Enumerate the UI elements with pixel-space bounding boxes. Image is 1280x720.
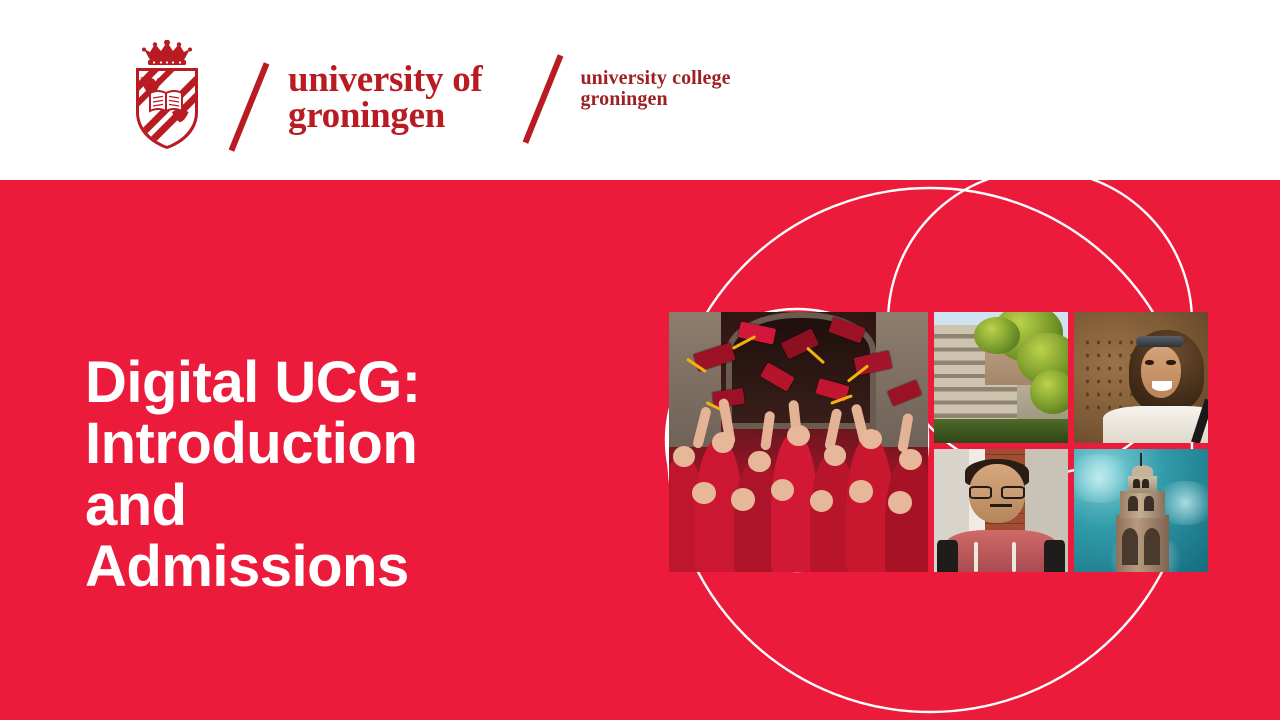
slide-body: Digital UCG: Introduction and Admissions	[0, 180, 1280, 720]
logo-lockup: university of groningen university colle…	[128, 40, 731, 152]
university-of-groningen-coat-of-arms-icon	[128, 40, 206, 152]
university-of-groningen-wordmark: university of groningen	[288, 62, 482, 135]
sub-wordmark-line-1: university college	[580, 68, 730, 89]
slide-header: university of groningen university colle…	[0, 0, 1280, 180]
student-portrait-male-photo	[934, 449, 1068, 572]
martini-tower-photo	[1074, 449, 1208, 572]
student-portrait-female-photo	[1074, 312, 1208, 443]
diagonal-slash-secondary-icon	[526, 46, 572, 138]
campus-building-photo	[934, 312, 1068, 443]
sub-wordmark-line-2: groningen	[580, 89, 730, 110]
photo-collage	[669, 312, 1202, 572]
diagonal-slash-icon	[232, 54, 278, 146]
photo-grid	[934, 312, 1202, 572]
presentation-slide: university of groningen university colle…	[0, 0, 1280, 720]
wordmark-line-2: groningen	[288, 98, 482, 134]
page-title: Digital UCG: Introduction and Admissions	[85, 352, 605, 598]
wordmark-line-1: university of	[288, 62, 482, 98]
graduation-ceremony-photo	[669, 312, 928, 572]
university-college-groningen-wordmark: university college groningen	[580, 68, 730, 110]
